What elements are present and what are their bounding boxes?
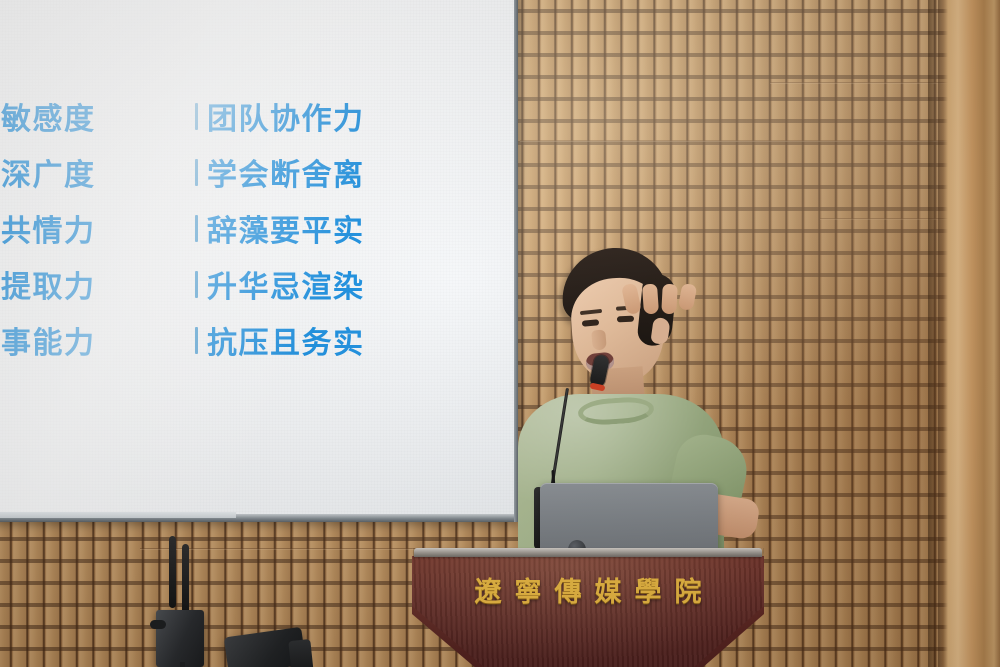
slide-item-label: 讲故事能力 xyxy=(0,318,96,362)
slide-item-label: 功课深广度 xyxy=(0,150,96,194)
camera-mount-arm xyxy=(288,639,313,667)
receiver-knob xyxy=(150,620,166,629)
bullet-tick-icon xyxy=(195,327,198,354)
slide-item-label: 辞藻要平实 xyxy=(207,206,365,250)
slide-item-label: 团队协作力 xyxy=(207,94,365,138)
slide-right-column: 团队协作力 学会断舍离 辞藻要平实 升华忌渲染 抗压且务实 xyxy=(195,88,365,368)
bullet-tick-icon xyxy=(195,215,198,242)
nose xyxy=(591,329,607,350)
screen-bottom-frame-left xyxy=(0,512,236,518)
projection-screen: 能 选题敏感度 功课深广度 外联共情力 信息提取力 xyxy=(0,0,518,522)
slide-left-column: 选题敏感度 功课深广度 外联共情力 信息提取力 讲故事能力 xyxy=(0,88,96,368)
finger xyxy=(642,284,659,315)
slide-list-item: 升华忌渲染 xyxy=(195,256,365,312)
slide-item-label: 升华忌渲染 xyxy=(207,262,365,306)
finger xyxy=(661,284,678,315)
bullet-tick-icon xyxy=(195,159,198,186)
ear xyxy=(650,317,670,345)
slide-list-item: 信息提取力 xyxy=(0,256,96,312)
podium-top-edge xyxy=(414,548,762,557)
corner-pillar xyxy=(938,0,1000,667)
pillar-shadow-edge xyxy=(928,0,938,667)
slide-list-item: 讲故事能力 xyxy=(0,312,96,368)
slide-item-label: 外联共情力 xyxy=(0,206,96,250)
eye-right xyxy=(617,316,634,323)
slide-item-label: 选题敏感度 xyxy=(0,94,96,138)
slide-item-label: 抗压且务实 xyxy=(207,318,365,362)
slide-list-item: 抗压且务实 xyxy=(195,312,365,368)
podium: 遼寧傳媒學院 xyxy=(412,548,764,667)
institution-nameplate: 遼寧傳媒學院 xyxy=(412,570,764,609)
wireless-receiver-body xyxy=(156,610,204,667)
slide-item-label: 学会断舍离 xyxy=(207,150,365,194)
slide-list-item: 辞藻要平实 xyxy=(195,200,365,256)
antenna-icon xyxy=(169,536,176,608)
slide-list-item: 外联共情力 xyxy=(0,200,96,256)
slide-list-item: 团队协作力 xyxy=(195,88,365,144)
photo-scene: 能 选题敏感度 功课深广度 外联共情力 信息提取力 xyxy=(0,0,1000,667)
bullet-tick-icon xyxy=(195,103,198,130)
slide-list-item: 学会断舍离 xyxy=(195,144,365,200)
slide-item-label: 信息提取力 xyxy=(0,262,96,306)
bullet-tick-icon xyxy=(195,271,198,298)
tripod-leg xyxy=(180,662,185,667)
antenna-icon xyxy=(182,544,189,616)
slide-list-item: 选题敏感度 xyxy=(0,88,96,144)
slide-list-item: 功课深广度 xyxy=(0,144,96,200)
finger xyxy=(678,283,698,311)
av-equipment xyxy=(150,536,290,667)
